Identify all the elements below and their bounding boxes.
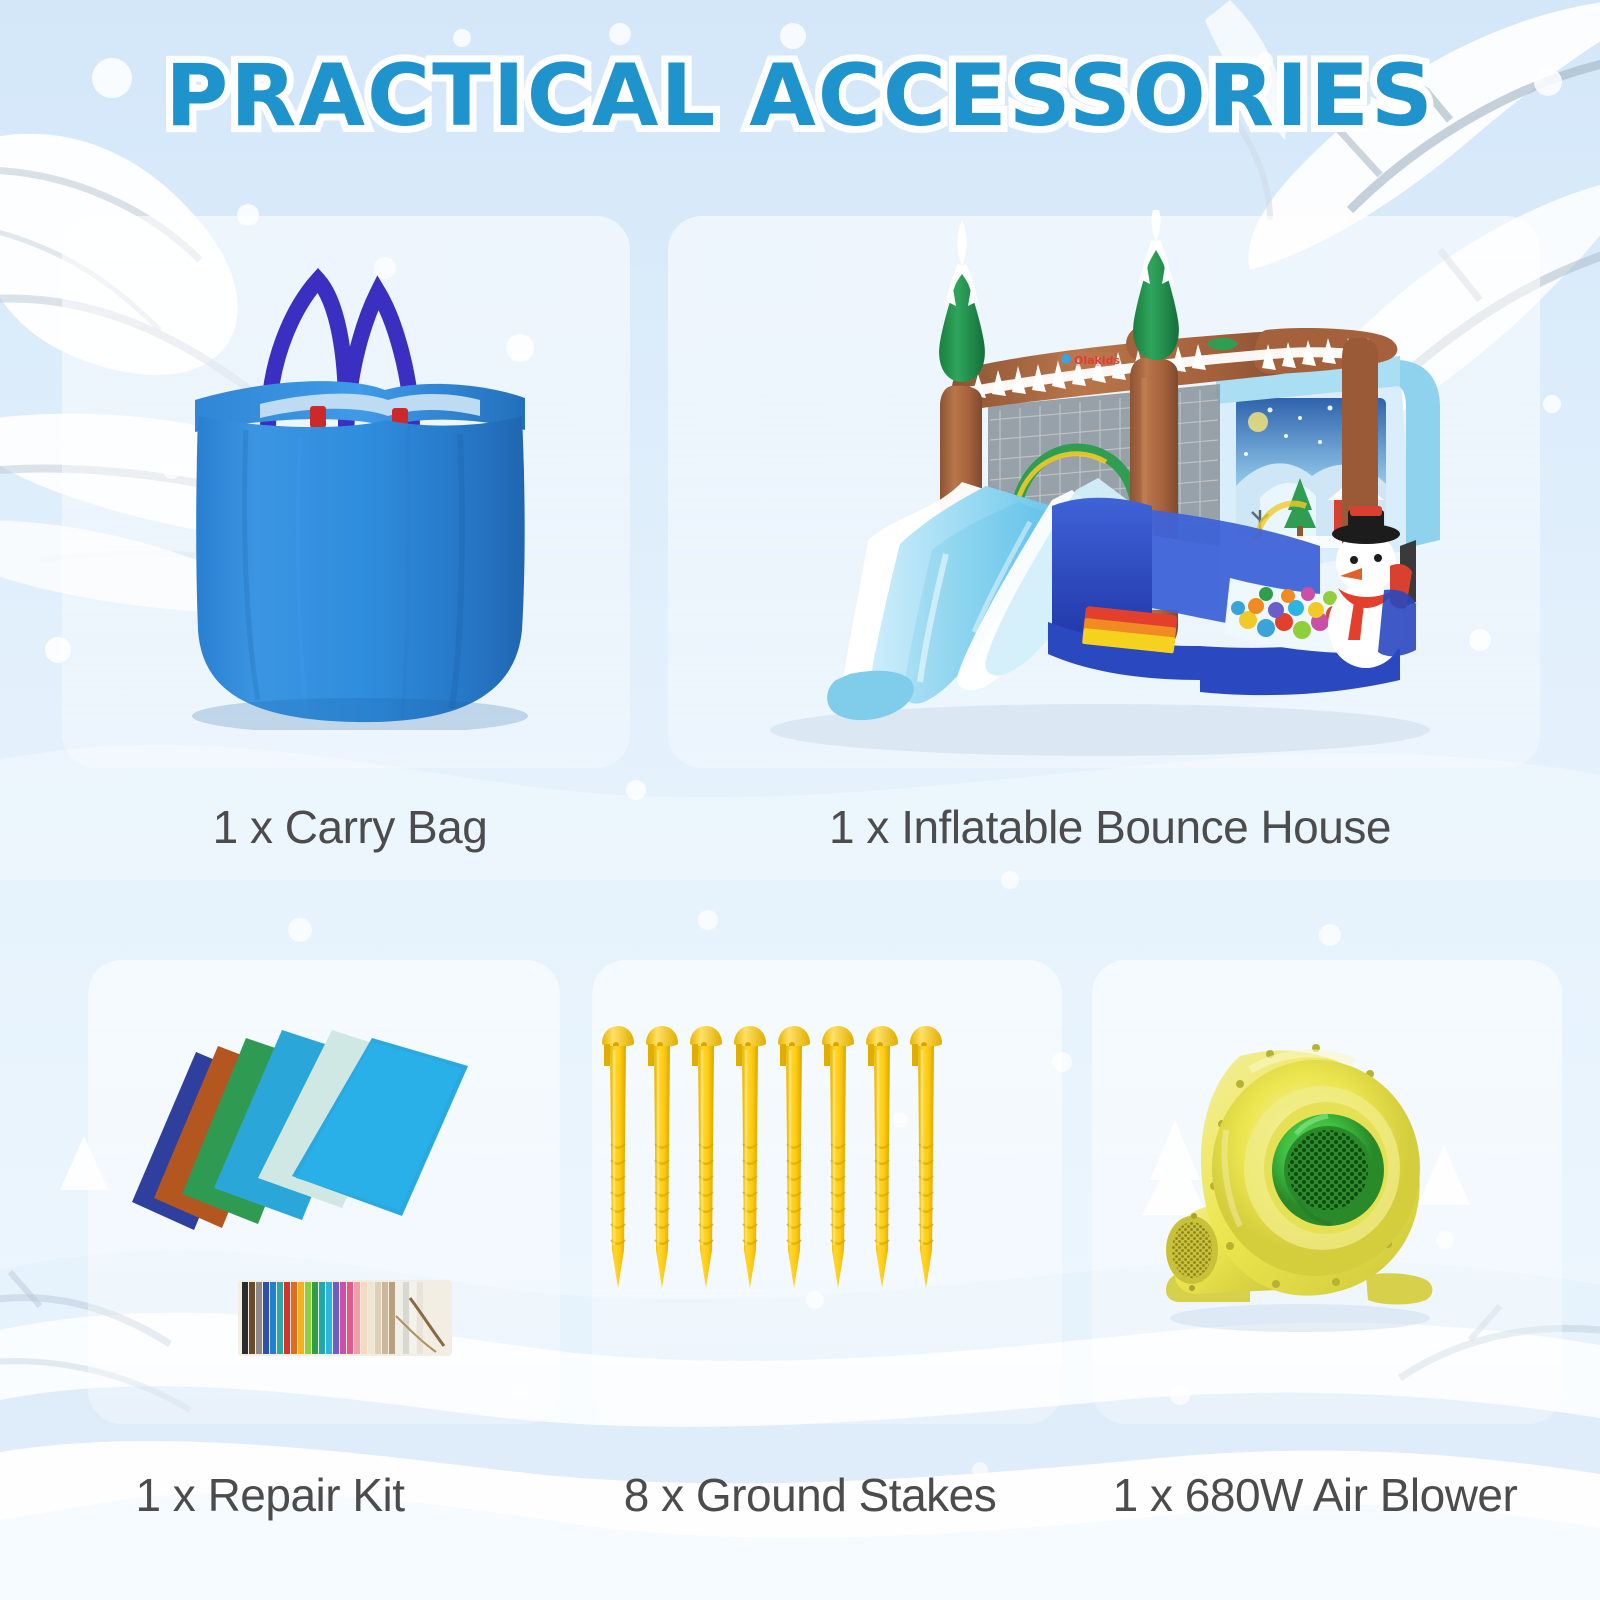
- caption-air-blower: 1 x 680W Air Blower: [1050, 1468, 1580, 1522]
- ground-stake: [734, 1026, 766, 1288]
- blower-foot-right: [1366, 1273, 1432, 1304]
- caption-repair-kit: 1 x Repair Kit: [20, 1468, 520, 1522]
- svg-text:Olakids: Olakids: [1074, 354, 1121, 367]
- repair-kit-illustration: [110, 980, 510, 1380]
- house-turret-center: [1133, 210, 1179, 360]
- carry-bag-illustration: [150, 230, 570, 730]
- caption-carry-bag: 1 x Carry Bag: [0, 800, 700, 854]
- ground-stake: [602, 1026, 634, 1288]
- ground-stake: [910, 1026, 942, 1288]
- ground-stake: [866, 1026, 898, 1288]
- house-turret-left: [939, 220, 985, 382]
- caption-bounce-house: 1 x Inflatable Bounce House: [660, 800, 1560, 854]
- ground-stake: [646, 1026, 678, 1288]
- blower-outlet-mesh: [1172, 1222, 1212, 1278]
- ground-stake: [690, 1026, 722, 1288]
- ground-stake: [778, 1026, 810, 1288]
- caption-ground-stakes: 8 x Ground Stakes: [560, 1468, 1060, 1522]
- bag-tag-left: [310, 406, 326, 428]
- ground-stakes-illustration: [592, 1020, 972, 1310]
- infographic-root: PRACTICAL ACCESSORIES: [0, 0, 1600, 1600]
- page-title-text: PRACTICAL ACCESSORIES: [165, 46, 1435, 146]
- ground-stake: [822, 1026, 854, 1288]
- air-blower-illustration: [1130, 1000, 1470, 1340]
- inflatable-bounce-house-illustration: Olakids: [700, 210, 1500, 770]
- house-brand-logo: Olakids: [1058, 352, 1121, 367]
- page-title: PRACTICAL ACCESSORIES: [0, 46, 1600, 146]
- repair-thread-bundle: [238, 1280, 452, 1356]
